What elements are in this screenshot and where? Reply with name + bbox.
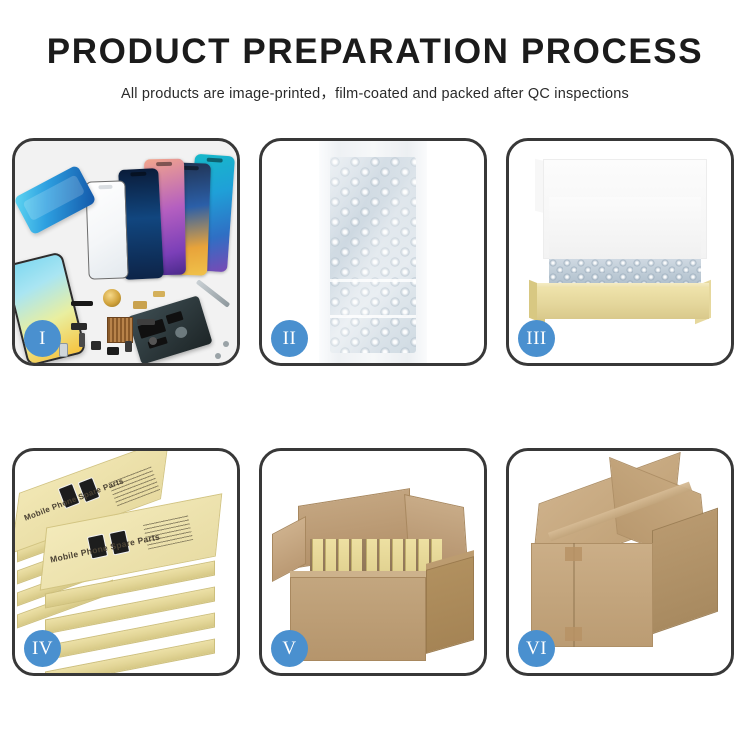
process-step-panel-4[interactable]: Mobile Phone Spare Parts Mobile Phone Sp… [12, 448, 240, 676]
sim-tray-icon [59, 343, 68, 357]
gold-connector-1 [133, 301, 147, 309]
process-step-panel-1[interactable]: I [12, 138, 240, 366]
step-badge-2: II [271, 320, 308, 357]
bubble-wrap-pouch [330, 157, 416, 353]
step-badge-5: V [271, 630, 308, 667]
small-part-4 [107, 347, 119, 355]
process-step-panel-5[interactable]: V [259, 448, 487, 676]
step-badge-4: IV [24, 630, 61, 667]
page-title: PRODUCT PREPARATION PROCESS [0, 34, 750, 69]
process-steps-grid: I II III [12, 138, 740, 676]
carton-front-face [531, 543, 653, 647]
screw-icon-1 [215, 353, 221, 359]
screw-icon-2 [223, 341, 229, 347]
process-step-panel-2[interactable]: II [259, 138, 487, 366]
wrap-sheen [330, 157, 416, 353]
process-step-panel-3[interactable]: III [506, 138, 734, 366]
coil-part-icon [103, 289, 121, 307]
page-subtitle: All products are image-printed，film-coat… [0, 82, 750, 103]
lcd-panel-icon [15, 165, 97, 236]
camera-part-icon [149, 337, 157, 345]
small-part-5 [125, 341, 132, 352]
tape-tab-bottom [565, 627, 582, 641]
foam-sheet [549, 197, 701, 263]
tape-tab-top [565, 547, 582, 561]
flex-cable-icon [137, 319, 155, 325]
carton-side-face [652, 508, 718, 635]
chip-grid-icon [107, 317, 133, 343]
carton-side-face [426, 556, 474, 654]
box-front-face [537, 287, 709, 319]
header: PRODUCT PREPARATION PROCESS All products… [0, 0, 750, 103]
process-step-panel-6[interactable]: VI [506, 448, 734, 676]
small-part-3 [91, 341, 101, 350]
small-part-2 [79, 333, 85, 347]
gold-connector-2 [153, 291, 165, 297]
small-part-1 [71, 323, 87, 330]
step-badge-6: VI [518, 630, 555, 667]
speaker-part-icon [71, 301, 93, 306]
step-badge-3: III [518, 320, 555, 357]
step-badge-1: I [24, 320, 61, 357]
carton-front-face [290, 577, 426, 661]
